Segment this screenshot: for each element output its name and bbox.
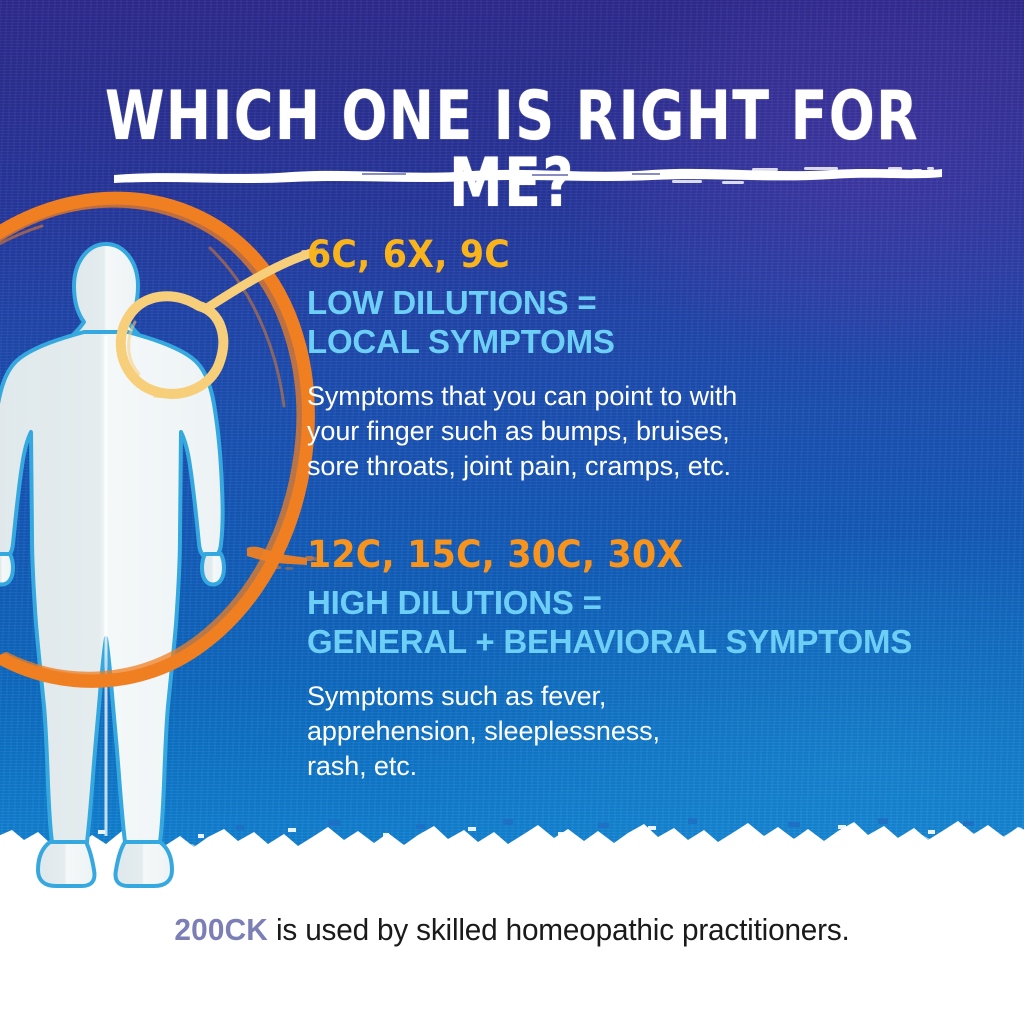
footer-potency-tag: 200CK [174, 912, 268, 947]
infographic-root: WHICH ONE IS RIGHT FOR ME? [0, 0, 1024, 1024]
potency-label-high: 12C, 15C, 30C, 30X [307, 536, 956, 574]
yellow-brush-lasso-callout [95, 248, 325, 408]
footer-note: 200CK is used by skilled homeopathic pra… [20, 912, 1003, 948]
potency-label-low: 6C, 6X, 9C [307, 236, 956, 274]
dilution-block-high: 12C, 15C, 30C, 30X HIGH DILUTIONS = GENE… [307, 536, 997, 784]
dilution-block-low: 6C, 6X, 9C LOW DILUTIONS = LOCAL SYMPTOM… [307, 236, 997, 484]
dilution-heading-high: HIGH DILUTIONS = GENERAL + BEHAVIORAL SY… [307, 584, 997, 662]
dilution-description-high: Symptoms such as fever, apprehension, sl… [307, 679, 997, 784]
footer-text: is used by skilled homeopathic practitio… [268, 912, 850, 947]
dilution-heading-low: LOW DILUTIONS = LOCAL SYMPTOMS [307, 284, 997, 362]
dilution-description-low: Symptoms that you can point to with your… [307, 379, 997, 484]
title-underline-brushstroke [112, 164, 944, 188]
